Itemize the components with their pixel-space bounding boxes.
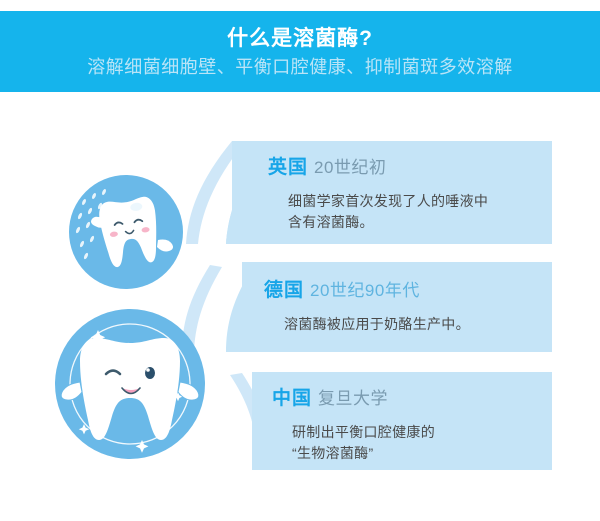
card-body-uk: 细菌学家首次发现了人的唾液中 含有溶菌酶。 [288,191,538,233]
card-country-germany: 德国 [264,280,304,301]
page-header: 什么是溶菌酶? 溶解细菌细胞壁、平衡口腔健康、抑制菌斑多效溶解 [0,11,600,92]
page-title: 什么是溶菌酶? [227,28,373,49]
card-country-uk: 英国 [268,157,308,178]
card-when-china: 复旦大学 [318,389,388,408]
card-header-germany: 德国20世纪90年代 [264,281,420,300]
card-when-germany: 20世纪90年代 [310,281,420,300]
timeline-card-china[interactable]: 中国复旦大学 研制出平衡口腔健康的 “生物溶菌酶” [252,372,552,470]
page-subtitle: 溶解细菌细胞壁、平衡口腔健康、抑制菌斑多效溶解 [87,58,513,76]
card-header-china: 中国复旦大学 [272,389,388,408]
card-body-china: 研制出平衡口腔健康的 “生物溶菌酶” [292,422,542,464]
card-when-uk: 20世纪初 [314,158,386,177]
tooth-wink-icon [55,309,205,459]
timeline-card-germany[interactable]: 德国20世纪90年代 溶菌酶被应用于奶酪生产中。 [242,262,552,352]
card-body-germany: 溶菌酶被应用于奶酪生产中。 [284,314,534,335]
illustration-column [0,92,220,521]
infographic-page: 什么是溶菌酶? 溶解细菌细胞壁、平衡口腔健康、抑制菌斑多效溶解 [0,0,600,521]
timeline-card-uk[interactable]: 英国20世纪初 细菌学家首次发现了人的唾液中 含有溶菌酶。 [232,141,552,244]
card-country-china: 中国 [272,388,312,409]
tooth-splash-icon [69,175,183,289]
card-header-uk: 英国20世纪初 [268,158,386,177]
